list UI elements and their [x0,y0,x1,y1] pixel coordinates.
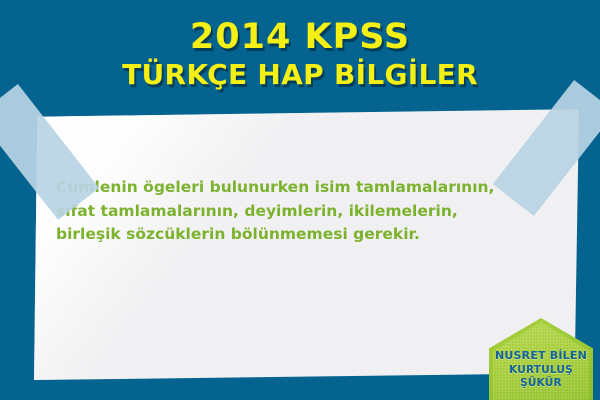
badge-text-block: NUSRET BİLEN KURTULUŞ ŞÜKÜR [489,349,593,391]
paper-body-text: Cümlenin ögeleri bulunurken isim tamlama… [56,176,534,247]
body-text-line: Cümlenin ögeleri bulunurken isim tamlama… [56,176,534,200]
body-text-line: birleşik sözcüklerin bölünmemesi gerekir… [56,223,534,247]
title-line-secondary: TÜRKÇE HAP BİLGİLER [0,61,600,89]
badge-author-name: NUSRET BİLEN [489,349,593,364]
credits-badge: NUSRET BİLEN KURTULUŞ ŞÜKÜR [489,318,593,400]
title-line-primary: 2014 KPSS [0,20,600,55]
body-text-line: sıfat tamlamalarının, deyimlerin, ikilem… [56,200,534,224]
poster-canvas: 2014 KPSS TÜRKÇE HAP BİLGİLER Cümlenin ö… [0,0,600,400]
poster-title: 2014 KPSS TÜRKÇE HAP BİLGİLER [0,20,600,89]
badge-author-subname: KURTULUŞ ŞÜKÜR [489,364,593,392]
